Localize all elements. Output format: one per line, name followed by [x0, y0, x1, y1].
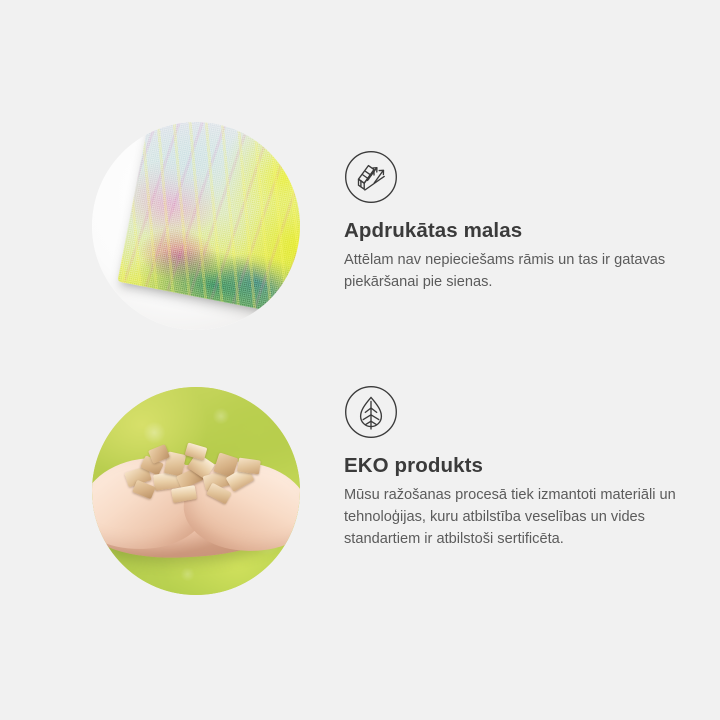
feature-title: EKO produkts — [344, 453, 688, 479]
feature-block-printed-edges: Apdrukātas malas Attēlam nav nepieciešam… — [0, 0, 720, 360]
cupped-hands-illustration — [92, 443, 300, 561]
feature-text-eko-produkts: EKO produkts Mūsu ražošanas procesā tiek… — [344, 385, 688, 550]
product-feature-page: Apdrukātas malas Attēlam nav nepieciešam… — [0, 0, 720, 720]
feature-description: Mūsu ražošanas procesā tiek izmantoti ma… — [344, 484, 680, 551]
canvas-print-texture — [117, 122, 300, 317]
canvas-printed-face — [117, 122, 300, 317]
leaf-icon — [344, 385, 398, 439]
canvas-corner-photo — [92, 122, 300, 330]
feature-block-eko-produkts: EKO produkts Mūsu ražošanas procesā tiek… — [0, 360, 720, 720]
wood-chips-pile — [120, 443, 270, 509]
feature-text-printed-edges: Apdrukātas malas Attēlam nav nepieciešam… — [344, 150, 688, 293]
feature-title: Apdrukātas malas — [344, 218, 688, 244]
feature-description: Attēlam nav nepieciešams rāmis un tas ir… — [344, 249, 680, 293]
printed-edges-icon — [344, 150, 398, 204]
wood-chips-hands-photo — [92, 387, 300, 595]
canvas-corner-illustration — [92, 122, 300, 330]
